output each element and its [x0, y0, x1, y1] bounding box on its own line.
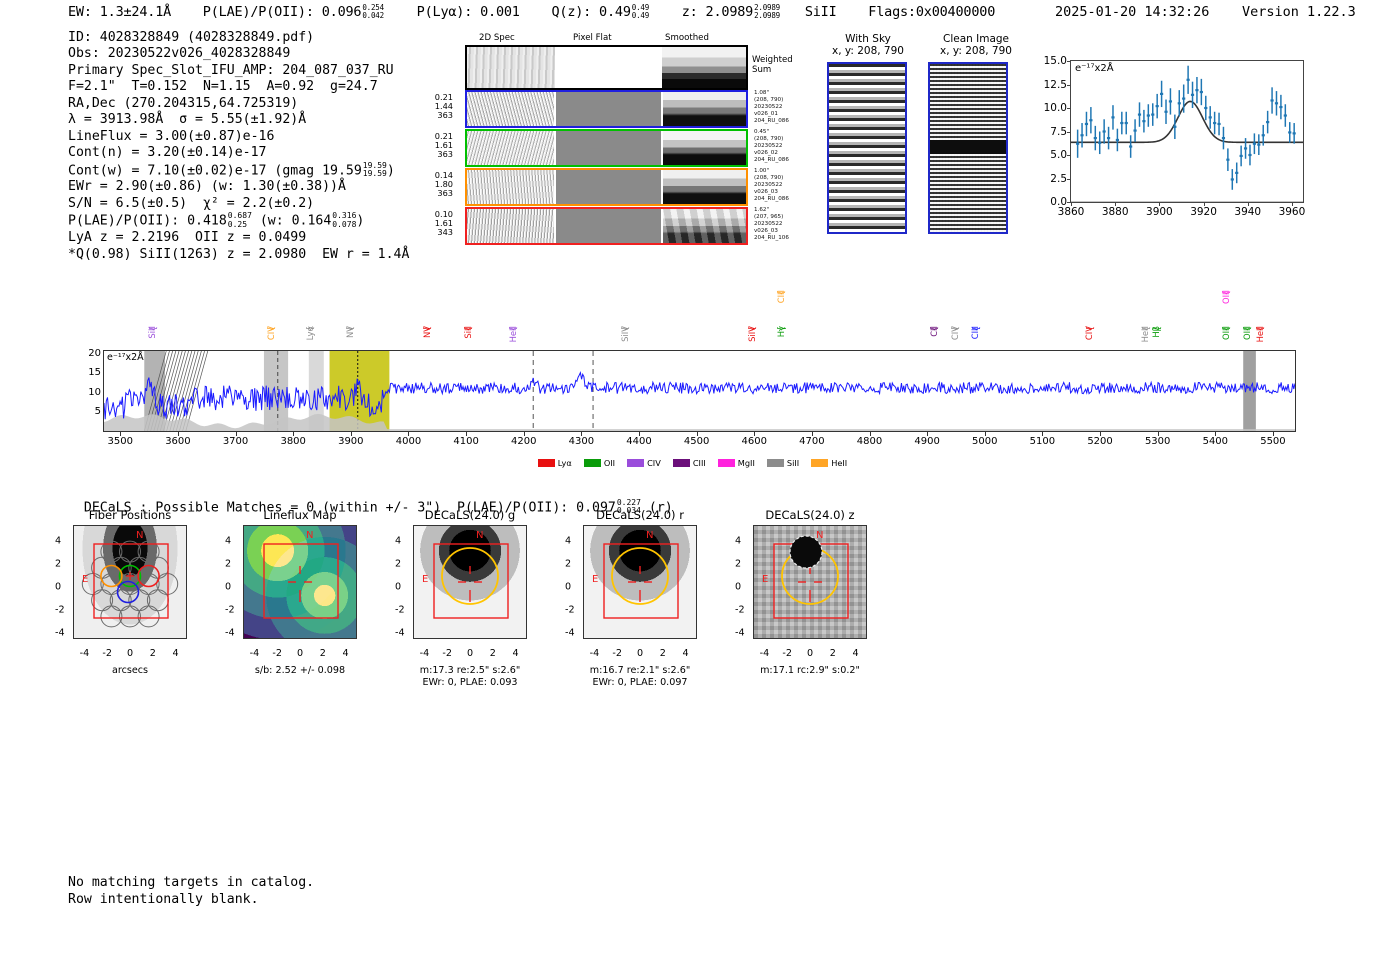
- panel-xtick: 0: [127, 648, 133, 659]
- header-flags: Flags:0x00400000: [868, 4, 995, 20]
- spectrum-xtick-mark: [927, 432, 928, 436]
- spectrum-xtick: 5200: [1087, 436, 1112, 447]
- legend-item-civ: CIV: [627, 458, 661, 468]
- spectrum-legend: LyαOIICIVCIIIMgIISiIIHeII: [85, 452, 1300, 471]
- gmag-errors: 19.5919.59: [363, 162, 387, 179]
- spectrum-xtick: 4200: [511, 436, 536, 447]
- fiber-1-numbers: 0.211.44363: [419, 93, 453, 121]
- legend-item-siii: SiII: [767, 458, 799, 468]
- line-label-brace: {: [148, 326, 158, 331]
- panel-ytick: 4: [735, 536, 741, 547]
- line-label-brace: {: [1221, 290, 1231, 295]
- line-fit-ytick-mark: [1067, 61, 1071, 62]
- panel-ytick: 4: [225, 536, 231, 547]
- with-sky-title: With Sky x, y: 208, 790: [820, 33, 916, 57]
- panel-ytick: 0: [395, 582, 401, 593]
- legend-label: SiII: [787, 458, 799, 468]
- panel-caption-2: EWr: 0, PLAE: 0.097: [565, 677, 715, 689]
- panel-xtick: 2: [490, 648, 496, 659]
- spectrum-xtick-mark: [408, 432, 409, 436]
- panel-ytick: -4: [735, 627, 745, 638]
- bottom-note: No matching targets in catalog. Row inte…: [68, 874, 314, 908]
- panel-lineflux-1: Lineflux MapN-4-2024-4-2024s/b: 2.52 +/-…: [225, 508, 375, 677]
- fiber-row-1: [465, 90, 748, 128]
- panel-title: Lineflux Map: [225, 508, 375, 522]
- spectrum-xtick-mark: [581, 432, 582, 436]
- panel-ytick: -4: [55, 627, 65, 638]
- legend-swatch: [584, 459, 601, 467]
- header-z-label: z: 2.0989: [682, 4, 753, 20]
- spectrum-xtick: 5300: [1145, 436, 1170, 447]
- info-lineflux: LineFlux = 3.00(±0.87)e-16: [68, 129, 409, 145]
- spectrum-xtick-mark: [870, 432, 871, 436]
- spectrum-xtick: 4400: [626, 436, 651, 447]
- panel-xtick: 2: [830, 648, 836, 659]
- spectrum-units-label: e⁻¹⁷x2Å: [107, 352, 144, 363]
- spectrum-xtick-mark: [1215, 432, 1216, 436]
- panel-ytick: 4: [565, 536, 571, 547]
- panel-xtick: -2: [272, 648, 282, 659]
- spectrum-xtick-mark: [1100, 432, 1101, 436]
- panel-ytick: 2: [565, 559, 571, 570]
- spectrum-xtick-mark: [812, 432, 813, 436]
- spectrum-xtick-mark: [351, 432, 352, 436]
- spectrum-xtick-mark: [236, 432, 237, 436]
- panel-fiber-0: Fiber PositionsNE-4-2024-4-2024arcsecs: [55, 508, 205, 677]
- line-label-brace: {: [1085, 326, 1095, 331]
- line-fit-ytick-mark: [1067, 132, 1071, 133]
- legend-label: HeII: [831, 458, 847, 468]
- info-cont-n: Cont(n) = 3.20(±0.14)e-17: [68, 145, 409, 161]
- header-plae-label: P(LAE)/P(OII): 0.096: [203, 4, 362, 20]
- fiber-4-meta: 1.62"(207, 965) 20230522v026_03 204_RU_1…: [754, 207, 814, 242]
- header-timestamp-version: 2025-01-20 14:32:26 Version 1.22.3: [1055, 4, 1356, 20]
- info-q-line: *Q(0.98) SiII(1263) z = 2.0980 EW r = 1.…: [68, 247, 409, 263]
- line-fit-xtick: 3880: [1102, 206, 1129, 218]
- legend-label: CIII: [693, 458, 706, 468]
- line-fit-ytick: 15.0: [1044, 55, 1067, 67]
- panel-ytick: 2: [55, 559, 61, 570]
- legend-item-ciii: CIII: [673, 458, 706, 468]
- line-label-brace: {: [950, 326, 960, 331]
- legend-swatch: [767, 459, 784, 467]
- info-radec: RA,Dec (270.204315,64.725319): [68, 96, 409, 112]
- line-fit-xtick: 3900: [1146, 206, 1173, 218]
- fiber-row-4: [465, 207, 748, 245]
- line-fit-xtick-mark: [1115, 202, 1116, 206]
- line-label-brace: {: [1255, 326, 1265, 331]
- clean-image-title: Clean Image x, y: 208, 790: [928, 33, 1024, 57]
- line-fit-ytick: 12.5: [1044, 79, 1067, 91]
- version: Version 1.22.3: [1242, 4, 1356, 20]
- panel-caption-1: m:17.3 re:2.5" s:2.6": [395, 665, 545, 677]
- col-title-pixelflat: Pixel Flat: [573, 33, 612, 43]
- spectrum-xtick: 4500: [684, 436, 709, 447]
- fiber-2-meta: 0.45"(208, 790) 20230522v026_02 204_RU_0…: [754, 129, 814, 164]
- line-fit-xtick-mark: [1071, 202, 1072, 206]
- line-fit-ytick: 2.5: [1050, 173, 1067, 185]
- legend-item-lyα: Lyα: [538, 458, 572, 468]
- legend-swatch: [538, 459, 555, 467]
- header-plya: P(Lyα): 0.001: [417, 4, 520, 20]
- panel-ytick: -2: [395, 604, 405, 615]
- fiber-3-numbers: 0.141.80363: [419, 171, 453, 199]
- panel-xtick: -4: [590, 648, 600, 659]
- panel-ytick: 2: [225, 559, 231, 570]
- panel-ytick: -4: [395, 627, 405, 638]
- compass-east: E: [592, 574, 598, 585]
- line-label-brace: {: [1221, 326, 1231, 331]
- panel-image-decals[interactable]: NE: [583, 525, 697, 639]
- header-summary-line: EW: 1.3±24.1Å P(LAE)/P(OII): 0.0960.2540…: [68, 4, 995, 20]
- panel-decals-3: DECaLS(24.0) rNE-4-2024-4-2024m:16.7 re:…: [565, 508, 715, 688]
- line-fit-xtick: 3960: [1279, 206, 1306, 218]
- spectrum-xtick: 5100: [1030, 436, 1055, 447]
- spectrum-xtick: 4800: [857, 436, 882, 447]
- legend-item-mgii: MgII: [718, 458, 755, 468]
- line-fit-ytick-mark: [1067, 85, 1071, 86]
- compass-north: N: [306, 530, 313, 541]
- spectrum-svg: [104, 351, 1295, 431]
- line-fit-xtick-mark: [1159, 202, 1160, 206]
- line-fit-xtick: 3940: [1234, 206, 1261, 218]
- line-fit-xtick: 3860: [1058, 206, 1085, 218]
- panel-ytick: 0: [735, 582, 741, 593]
- col-title-smoothed: Smoothed: [665, 33, 709, 43]
- panel-xtick: -4: [760, 648, 770, 659]
- spectrum-xtick: 3900: [338, 436, 363, 447]
- header-z-errors: 2.09892.0989: [754, 4, 780, 20]
- spec2d-montage: 2D Spec Pixel Flat Smoothed Weighted Sum…: [455, 33, 805, 258]
- panel-ytick: 4: [395, 536, 401, 547]
- panel-ytick: 2: [735, 559, 741, 570]
- spectrum-xtick: 5500: [1260, 436, 1285, 447]
- col-title-2dspec: 2D Spec: [479, 33, 515, 43]
- line-label-brace: {: [776, 326, 786, 331]
- legend-swatch: [673, 459, 690, 467]
- panel-title: DECaLS(24.0) z: [735, 508, 885, 522]
- panel-image-decals[interactable]: NE: [413, 525, 527, 639]
- panel-overlay: [414, 526, 526, 638]
- panel-ytick: 4: [55, 536, 61, 547]
- clean-image-dark-band: [930, 140, 1006, 154]
- spectrum-xtick: 4900: [914, 436, 939, 447]
- line-fit-ytick: 7.5: [1050, 126, 1067, 138]
- panel-decals-2: DECaLS(24.0) gNE-4-2024-4-2024m:17.3 re:…: [395, 508, 545, 688]
- panel-xtick: 2: [660, 648, 666, 659]
- header-qz-errors: 0.490.49: [632, 4, 649, 20]
- legend-label: MgII: [738, 458, 755, 468]
- panel-ytick: 0: [55, 582, 61, 593]
- info-obs: Obs: 20230522v026_4028328849: [68, 46, 409, 62]
- fiber-2-numbers: 0.211.61363: [419, 132, 453, 160]
- spectrum-ytick: 5: [85, 406, 101, 417]
- compass-east: E: [82, 574, 88, 585]
- header-ew: EW: 1.3±24.1Å: [68, 4, 171, 20]
- info-primary-spec-slot: Primary Spec_Slot_IFU_AMP: 204_087_037_R…: [68, 63, 409, 79]
- info-id: ID: 4028328849 (4028328849.pdf): [68, 30, 409, 46]
- info-redshifts: LyA z = 2.2196 OII z = 0.0499: [68, 230, 409, 246]
- line-fit-svg: [1071, 61, 1303, 202]
- spectrum-xtick-mark: [120, 432, 121, 436]
- source-info-block: ID: 4028328849 (4028328849.pdf) Obs: 202…: [68, 30, 409, 263]
- line-label-brace: {: [508, 326, 518, 331]
- spectrum-xtick-mark: [524, 432, 525, 436]
- line-label-brace: {: [1242, 326, 1252, 331]
- weighted-sum-label: Weighted Sum: [752, 55, 793, 75]
- panel-ytick: -2: [55, 604, 65, 615]
- panel-xtick: 4: [853, 648, 859, 659]
- line-label-brace: {: [1152, 326, 1162, 331]
- panel-image-lineflux[interactable]: N: [243, 525, 357, 639]
- panel-xtick: -4: [420, 648, 430, 659]
- panel-caption-1: m:17.1 rc:2.9" s:0.2": [735, 665, 885, 677]
- line-label-brace: {: [747, 326, 757, 331]
- fiber-4-numbers: 0.101.61343: [419, 210, 453, 238]
- panel-caption-2: EWr: 0, PLAE: 0.093: [395, 677, 545, 689]
- panel-xtick: 4: [513, 648, 519, 659]
- panel-ytick: -2: [565, 604, 575, 615]
- legend-label: Lyα: [558, 458, 572, 468]
- spectrum-xtick: 3600: [165, 436, 190, 447]
- line-label-brace: {: [266, 326, 276, 331]
- spectrum-ytick: 10: [85, 387, 101, 398]
- compass-north: N: [476, 530, 483, 541]
- fiber-circles: [74, 526, 186, 638]
- panel-xtick: -4: [250, 648, 260, 659]
- line-label-brace: {: [422, 326, 432, 331]
- header-species: SiII: [805, 4, 837, 20]
- spectrum-xtick-mark: [639, 432, 640, 436]
- panel-ytick: -4: [225, 627, 235, 638]
- panel-caption-1: m:16.7 re:2.1" s:2.6": [565, 665, 715, 677]
- line-fit-xtick: 3920: [1190, 206, 1217, 218]
- spectrum-xtick-mark: [754, 432, 755, 436]
- spectrum-ytick: 15: [85, 367, 101, 378]
- spectrum-xtick-mark: [1042, 432, 1043, 436]
- spectrum-xtick-mark: [178, 432, 179, 436]
- spectrum-xtick: 5000: [972, 436, 997, 447]
- spectrum-xtick: 4600: [742, 436, 767, 447]
- panel-xtick: 4: [683, 648, 689, 659]
- panel-xtick: -2: [612, 648, 622, 659]
- legend-swatch: [627, 459, 644, 467]
- spectrum-xtick-mark: [697, 432, 698, 436]
- spectrum-xtick: 5400: [1203, 436, 1228, 447]
- panel-overlay: [584, 526, 696, 638]
- header-qz-label: Q(z): 0.49: [551, 4, 630, 20]
- panel-caption-1: s/b: 2.52 +/- 0.098: [225, 665, 375, 677]
- timestamp: 2025-01-20 14:32:26: [1055, 4, 1209, 20]
- fiber-1-meta: 1.08"(208, 790) 20230522v026_01 204_RU_0…: [754, 90, 814, 125]
- panel-caption-1: arcsecs: [55, 665, 205, 677]
- line-fit-axes: e⁻¹⁷x2Å 0.02.55.07.510.012.515.038603880…: [1070, 60, 1304, 203]
- legend-swatch: [718, 459, 735, 467]
- fiber-row-3: [465, 168, 748, 206]
- panel-title: DECaLS(24.0) g: [395, 508, 545, 522]
- info-lambda-sigma: λ = 3913.98Å σ = 5.55(±1.92)Å: [68, 112, 409, 128]
- legend-label: OII: [604, 458, 615, 468]
- panel-xtick: -2: [442, 648, 452, 659]
- compass-east: E: [422, 574, 428, 585]
- spectrum-xtick: 4700: [799, 436, 824, 447]
- panel-ytick: 2: [395, 559, 401, 570]
- panel-xtick: 2: [150, 648, 156, 659]
- spectrum-xtick-mark: [1158, 432, 1159, 436]
- line-fit-xtick-mark: [1204, 202, 1205, 206]
- spectrum-xtick-mark: [985, 432, 986, 436]
- line-fit-xtick-mark: [1292, 202, 1293, 206]
- panel-overlay: [754, 526, 866, 638]
- panel-xtick: 0: [807, 648, 813, 659]
- spectrum-xtick: 4300: [569, 436, 594, 447]
- line-fit-ytick-mark: [1067, 108, 1071, 109]
- line-fit-ytick: 10.0: [1044, 102, 1067, 114]
- header-plae-errors: 0.2540.042: [362, 4, 384, 20]
- plae-w-errors: 0.3160.078: [332, 212, 356, 229]
- line-label-brace: {: [620, 326, 630, 331]
- spectrum-xtick-mark: [293, 432, 294, 436]
- fiber-3-meta: 1.00"(208, 790) 20230522v026_03 204_RU_0…: [754, 168, 814, 203]
- full-spectrum-chart: SiII{CIV{Lyα{NV{NV{SiII{HeII{SiIV{SiIV{C…: [85, 330, 1300, 470]
- panel-ytick: -4: [565, 627, 575, 638]
- panel-xtick: -2: [782, 648, 792, 659]
- line-fit-units-label: e⁻¹⁷x2Å: [1075, 63, 1114, 74]
- info-sn-chi2: S/N = 6.5(±0.5) χ² = 2.2(±0.2): [68, 196, 409, 212]
- spectrum-xtick: 3800: [280, 436, 305, 447]
- spectrum-xtick: 3500: [108, 436, 133, 447]
- spectrum-xtick: 4100: [453, 436, 478, 447]
- info-cont-w: Cont(w) = 7.10(±0.02)e-17 (gmag 19.5919.…: [68, 162, 409, 180]
- line-label-brace: {: [463, 326, 473, 331]
- spectrum-xtick: 4000: [396, 436, 421, 447]
- line-fit-chart: e⁻¹⁷x2Å 0.02.55.07.510.012.515.038603880…: [1030, 55, 1308, 233]
- legend-item-oii: OII: [584, 458, 615, 468]
- line-label-brace: {: [929, 326, 939, 331]
- panel-overlay: [244, 526, 356, 638]
- panel-title: Fiber Positions: [55, 508, 205, 522]
- spectrum-xtick-mark: [466, 432, 467, 436]
- panel-xtick: -4: [80, 648, 90, 659]
- panel-ytick: -2: [225, 604, 235, 615]
- panel-decals-z-4: DECaLS(24.0) zNE-4-2024-4-2024m:17.1 rc:…: [735, 508, 885, 677]
- with-sky-image: [827, 62, 907, 234]
- compass-north: N: [816, 530, 823, 541]
- line-fit-xtick-mark: [1248, 202, 1249, 206]
- compass-north: N: [646, 530, 653, 541]
- line-label-brace: {: [776, 290, 786, 295]
- line-label-brace: {: [305, 326, 315, 331]
- line-fit-ytick: 5.0: [1050, 149, 1067, 161]
- legend-label: CIV: [647, 458, 661, 468]
- panel-image-decals-z[interactable]: NE: [753, 525, 867, 639]
- spectrum-xtick-mark: [1273, 432, 1274, 436]
- panel-ytick: 0: [565, 582, 571, 593]
- legend-swatch: [811, 459, 828, 467]
- line-fit-ytick-mark: [1067, 179, 1071, 180]
- line-label-brace: {: [345, 326, 355, 331]
- panel-xtick: -2: [102, 648, 112, 659]
- fiber-row-2: [465, 129, 748, 167]
- info-ewr: EWr = 2.90(±0.86) (w: 1.30(±0.38))Å: [68, 179, 409, 195]
- panel-xtick: 4: [343, 648, 349, 659]
- panel-xtick: 0: [467, 648, 473, 659]
- weighted-sum-row: [465, 45, 748, 90]
- info-plae-poii: P(LAE)/P(OII): 0.4180.6870.25 (w: 0.1640…: [68, 212, 409, 230]
- plae-errors: 0.6870.25: [228, 212, 252, 229]
- panel-xtick: 2: [320, 648, 326, 659]
- panel-xtick: 4: [173, 648, 179, 659]
- spectrum-axes: e⁻¹⁷x2Å: [103, 350, 1296, 432]
- panel-xtick: 0: [297, 648, 303, 659]
- panel-xtick: 0: [637, 648, 643, 659]
- panel-title: DECaLS(24.0) r: [565, 508, 715, 522]
- line-label-brace: {: [971, 326, 981, 331]
- panel-ytick: 0: [225, 582, 231, 593]
- compass-east: E: [762, 574, 768, 585]
- spectrum-ytick: 20: [85, 348, 101, 359]
- legend-item-heii: HeII: [811, 458, 847, 468]
- panel-ytick: -2: [735, 604, 745, 615]
- line-label-brace: {: [1141, 326, 1151, 331]
- compass-north: N: [136, 530, 143, 541]
- line-fit-ytick-mark: [1067, 155, 1071, 156]
- panel-image-fiber[interactable]: NE: [73, 525, 187, 639]
- spectrum-xtick: 3700: [223, 436, 248, 447]
- info-fwhm-throughput: F=2.1" T=0.152 N=1.15 A=0.92 g=24.7: [68, 79, 409, 95]
